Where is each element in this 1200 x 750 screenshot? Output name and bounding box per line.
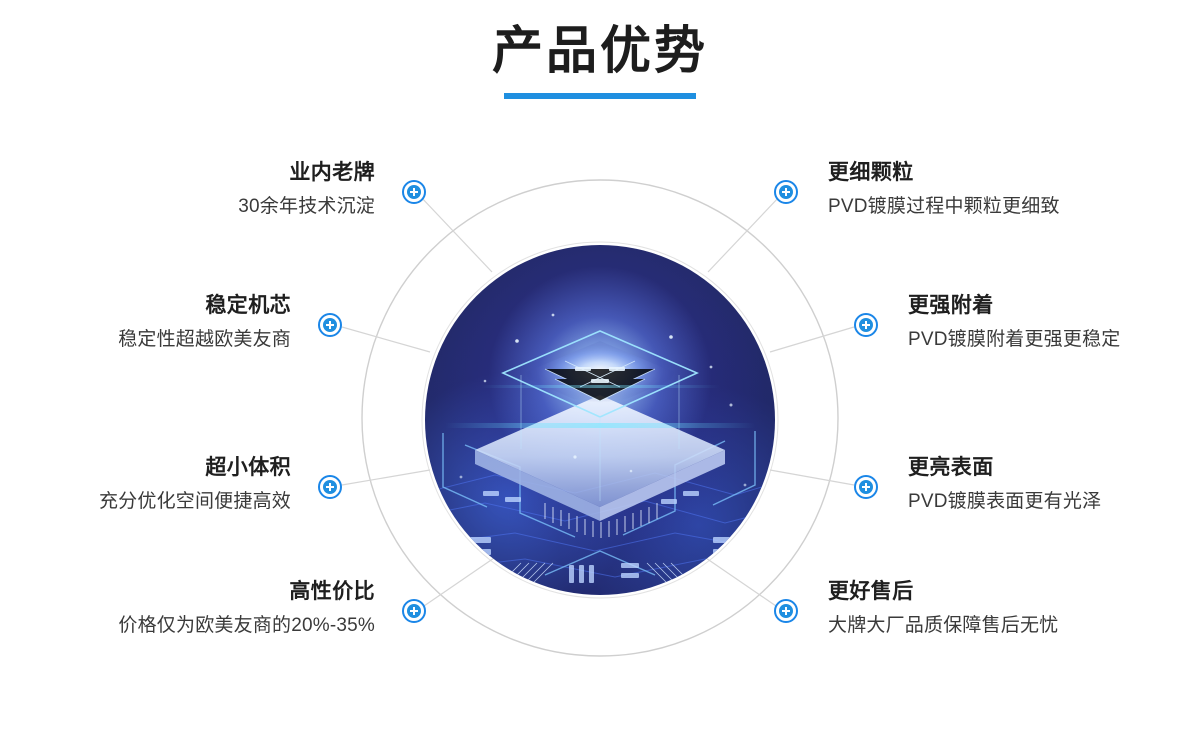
feature-label-right-3: 更亮表面 PVD镀膜表面更有光泽	[908, 455, 1200, 515]
feature-node-left-4[interactable]	[402, 599, 426, 623]
feature-title: 高性价比	[0, 579, 375, 605]
microchip-circuit-illustration	[425, 245, 775, 595]
feature-title: 更细颗粒	[828, 160, 1200, 186]
feature-desc: 大牌大厂品质保障售后无忧	[828, 614, 1200, 639]
feature-desc: PVD镀膜表面更有光泽	[908, 490, 1200, 515]
connector-left-2	[342, 327, 430, 352]
feature-label-left-2: 稳定机芯 稳定性超越欧美友商	[0, 293, 291, 353]
infographic-canvas: 产品优势	[0, 0, 1200, 750]
plus-icon	[323, 318, 337, 332]
feature-title: 稳定机芯	[0, 293, 291, 319]
feature-desc: 价格仅为欧美友商的20%-35%	[0, 614, 375, 639]
feature-node-right-3[interactable]	[854, 475, 878, 499]
plus-icon	[859, 480, 873, 494]
connector-right-2	[770, 327, 854, 352]
feature-title: 更亮表面	[908, 455, 1200, 481]
feature-desc: 30余年技术沉淀	[0, 195, 375, 220]
feature-label-left-1: 业内老牌 30余年技术沉淀	[0, 160, 375, 220]
plus-icon	[407, 604, 421, 618]
feature-label-right-4: 更好售后 大牌大厂品质保障售后无忧	[828, 579, 1200, 639]
feature-title: 更好售后	[828, 579, 1200, 605]
feature-title: 超小体积	[0, 455, 291, 481]
feature-label-left-3: 超小体积 充分优化空间便捷高效	[0, 455, 291, 515]
feature-node-left-2[interactable]	[318, 313, 342, 337]
feature-label-right-2: 更强附着 PVD镀膜附着更强更稳定	[908, 293, 1200, 353]
plus-icon	[779, 604, 793, 618]
feature-title: 业内老牌	[0, 160, 375, 186]
feature-desc: 稳定性超越欧美友商	[0, 328, 291, 353]
feature-title: 更强附着	[908, 293, 1200, 319]
feature-desc: 充分优化空间便捷高效	[0, 490, 291, 515]
feature-desc: PVD镀膜附着更强更稳定	[908, 328, 1200, 353]
feature-label-right-1: 更细颗粒 PVD镀膜过程中颗粒更细致	[828, 160, 1200, 220]
plus-icon	[779, 185, 793, 199]
feature-label-left-4: 高性价比 价格仅为欧美友商的20%-35%	[0, 579, 375, 639]
plus-icon	[407, 185, 421, 199]
feature-node-left-1[interactable]	[402, 180, 426, 204]
connector-left-3	[342, 470, 430, 485]
center-chip-image	[425, 245, 775, 595]
feature-desc: PVD镀膜过程中颗粒更细致	[828, 195, 1200, 220]
plus-icon	[323, 480, 337, 494]
feature-node-right-2[interactable]	[854, 313, 878, 337]
feature-node-right-4[interactable]	[774, 599, 798, 623]
feature-node-right-1[interactable]	[774, 180, 798, 204]
connector-right-3	[770, 470, 854, 485]
plus-icon	[859, 318, 873, 332]
feature-node-left-3[interactable]	[318, 475, 342, 499]
